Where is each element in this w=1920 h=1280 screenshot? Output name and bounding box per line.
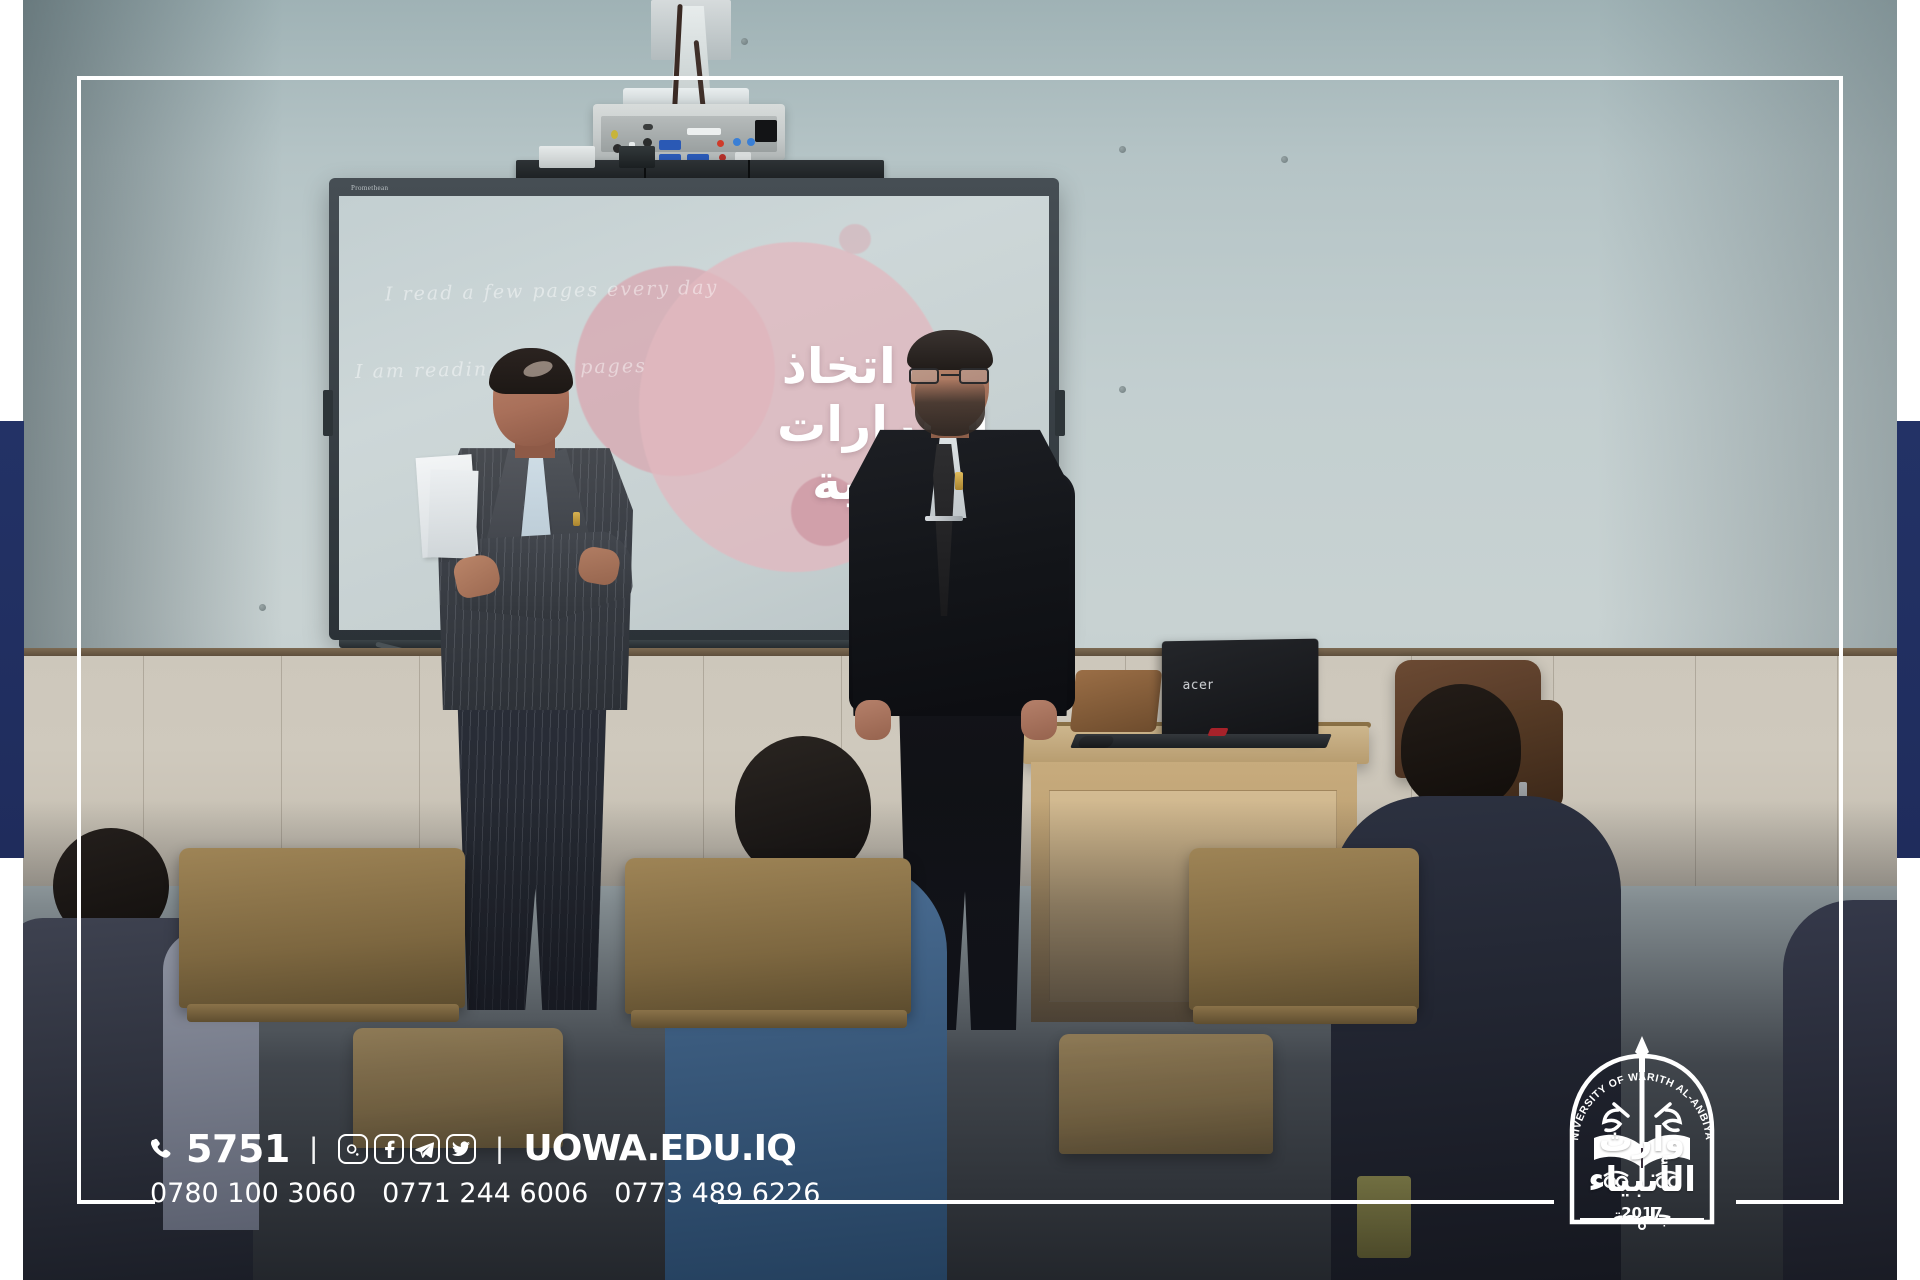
university-logo: UNIVERSITY OF WARITH AL-ANBIYAA وارث الأ… (1558, 1026, 1726, 1234)
facebook-icon[interactable] (374, 1134, 404, 1164)
speaker-right-hand-left (855, 700, 891, 740)
seat-arm-right (1193, 1006, 1417, 1024)
laptop-icon[interactable]: acer (1162, 639, 1319, 740)
phone-icon (150, 1136, 172, 1162)
seat-row-left (179, 848, 465, 1008)
telegram-icon[interactable] (410, 1134, 440, 1164)
twitter-icon[interactable] (446, 1134, 476, 1164)
footer-phone-row: 0780 100 3060 0771 244 6006 0773 489 622… (150, 1178, 850, 1209)
logo-year: 2017 (1621, 1204, 1663, 1222)
seat-row-right (1189, 848, 1419, 1010)
speaker-left-lapel-pin (573, 512, 580, 526)
frame-line-bottom-right (1736, 1200, 1843, 1204)
whiteboard-brand-label: Promethean (351, 184, 388, 192)
speaker-right-lapel-badge (955, 472, 963, 490)
frame-line-top (77, 76, 1843, 80)
wall-device-dark (619, 146, 655, 168)
desk-leather-pad (1070, 670, 1163, 732)
phone-number-3: 0773 489 6226 (614, 1178, 820, 1209)
phone-number-2: 0771 244 6006 (382, 1178, 588, 1209)
mouse-icon[interactable] (1077, 736, 1115, 748)
frame-line-right (1839, 76, 1843, 1204)
speaker-right-beard (915, 380, 985, 436)
hotline-number: 5751 (186, 1130, 290, 1168)
footer-divider-2: | (490, 1132, 510, 1166)
screenshot-root: Promethean I read a few pages every day … (0, 0, 1920, 1280)
phone-number-1: 0780 100 3060 (150, 1178, 356, 1209)
speaker-right-tie-clip (925, 516, 963, 521)
audience-head-3 (1401, 684, 1521, 810)
speaker-left-papers-second (427, 469, 478, 559)
instagram-icon[interactable] (338, 1134, 368, 1164)
glasses-icon (909, 368, 993, 384)
logo-arabic-main: وارث الأنبياء (1558, 1120, 1726, 1200)
whiteboard-mount-left (323, 390, 333, 436)
footer-primary-row: 5751 | (150, 1128, 850, 1170)
social-links (338, 1134, 476, 1164)
slide-blob-dot (839, 224, 871, 254)
seat-front-right (1059, 1034, 1273, 1154)
audience-head-2 (735, 736, 871, 878)
frame-line-left (77, 76, 81, 1204)
seat-arm-center (631, 1010, 907, 1028)
footer-divider-1: | (304, 1132, 324, 1166)
laptop-brand-label: acer (1183, 678, 1214, 693)
frame-line-bottom-left (77, 1200, 155, 1204)
wall-device-white (539, 146, 595, 168)
seat-row-center (625, 858, 911, 1014)
laptop-accent-strip (1207, 728, 1228, 736)
accent-bar-left (0, 421, 24, 858)
website-link[interactable]: UOWA.EDU.IQ (523, 1131, 796, 1167)
seat-arm-left (187, 1004, 459, 1022)
whiteboard-mount-right (1055, 390, 1065, 436)
accent-bar-right (1897, 421, 1920, 858)
footer-contact-bar: 5751 | (150, 1128, 850, 1248)
speaker-right-hand-right (1021, 700, 1057, 740)
seat-detail (1357, 1176, 1411, 1258)
